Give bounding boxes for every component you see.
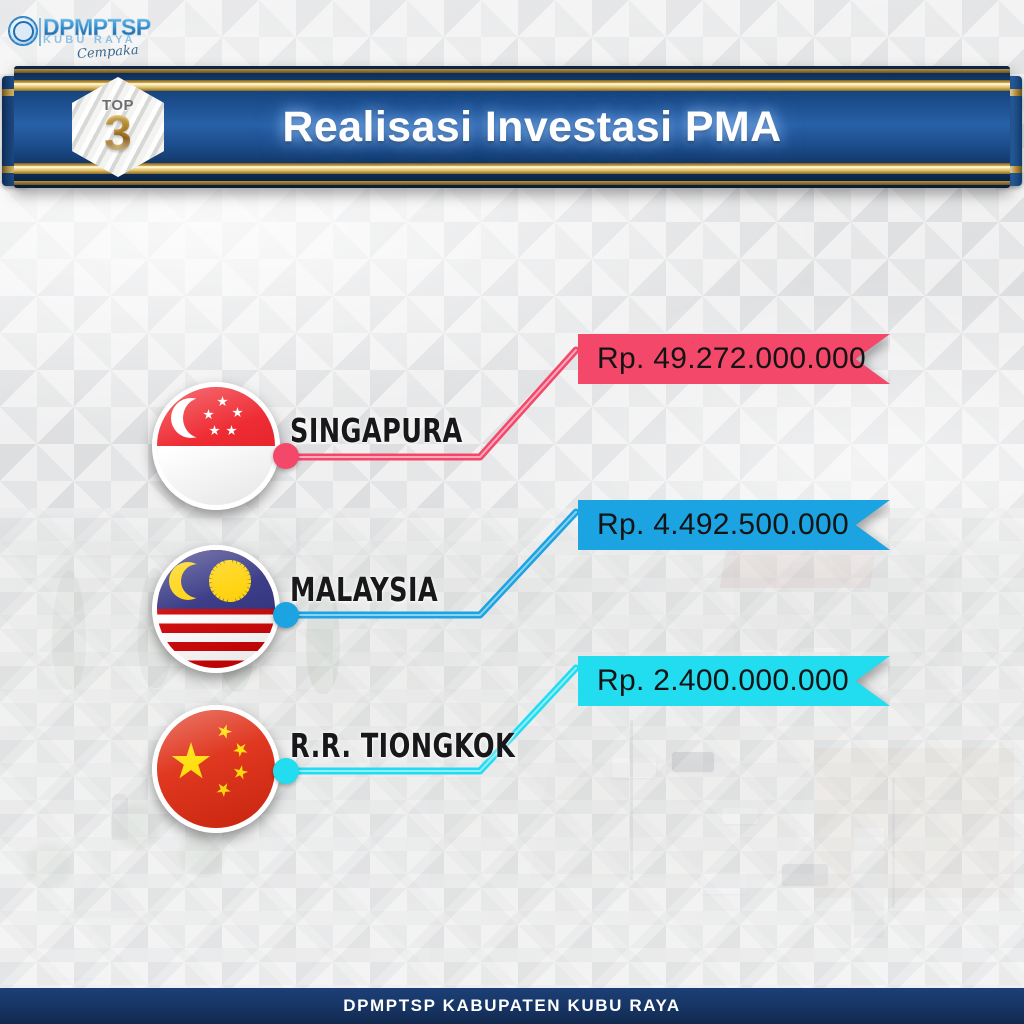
- connector-dot-2: [273, 602, 299, 628]
- value-ribbon-1: Rp. 49.272.000.000: [578, 334, 890, 384]
- connector-dot-3: [273, 758, 299, 784]
- value-ribbon-3: Rp. 2.400.000.000: [578, 656, 890, 706]
- country-label-3: R.R. TIONGKOK: [290, 726, 515, 765]
- value-ribbon-2: Rp. 4.492.500.000: [578, 500, 890, 550]
- badge-number: 3: [104, 108, 132, 158]
- flag-malaysia-icon: [152, 545, 280, 673]
- country-label-2: MALAYSIA: [290, 570, 438, 609]
- value-label-1: Rp. 49.272.000.000: [578, 342, 866, 376]
- footer-bar: DPMPTSP KABUPATEN KUBU RAYA: [0, 988, 1024, 1024]
- connector-dot-1: [273, 443, 299, 469]
- flag-china-icon: [152, 705, 280, 833]
- value-label-2: Rp. 4.492.500.000: [578, 508, 849, 542]
- flag-singapore-icon: [152, 382, 280, 510]
- country-label-1: SINGAPURA: [290, 411, 463, 450]
- footer-text: DPMPTSP KABUPATEN KUBU RAYA: [343, 996, 681, 1016]
- value-label-3: Rp. 2.400.000.000: [578, 664, 849, 698]
- infographic-canvas: DPMPTSP KUBU RAYA Cempaka Realisasi Inve…: [0, 0, 1024, 1024]
